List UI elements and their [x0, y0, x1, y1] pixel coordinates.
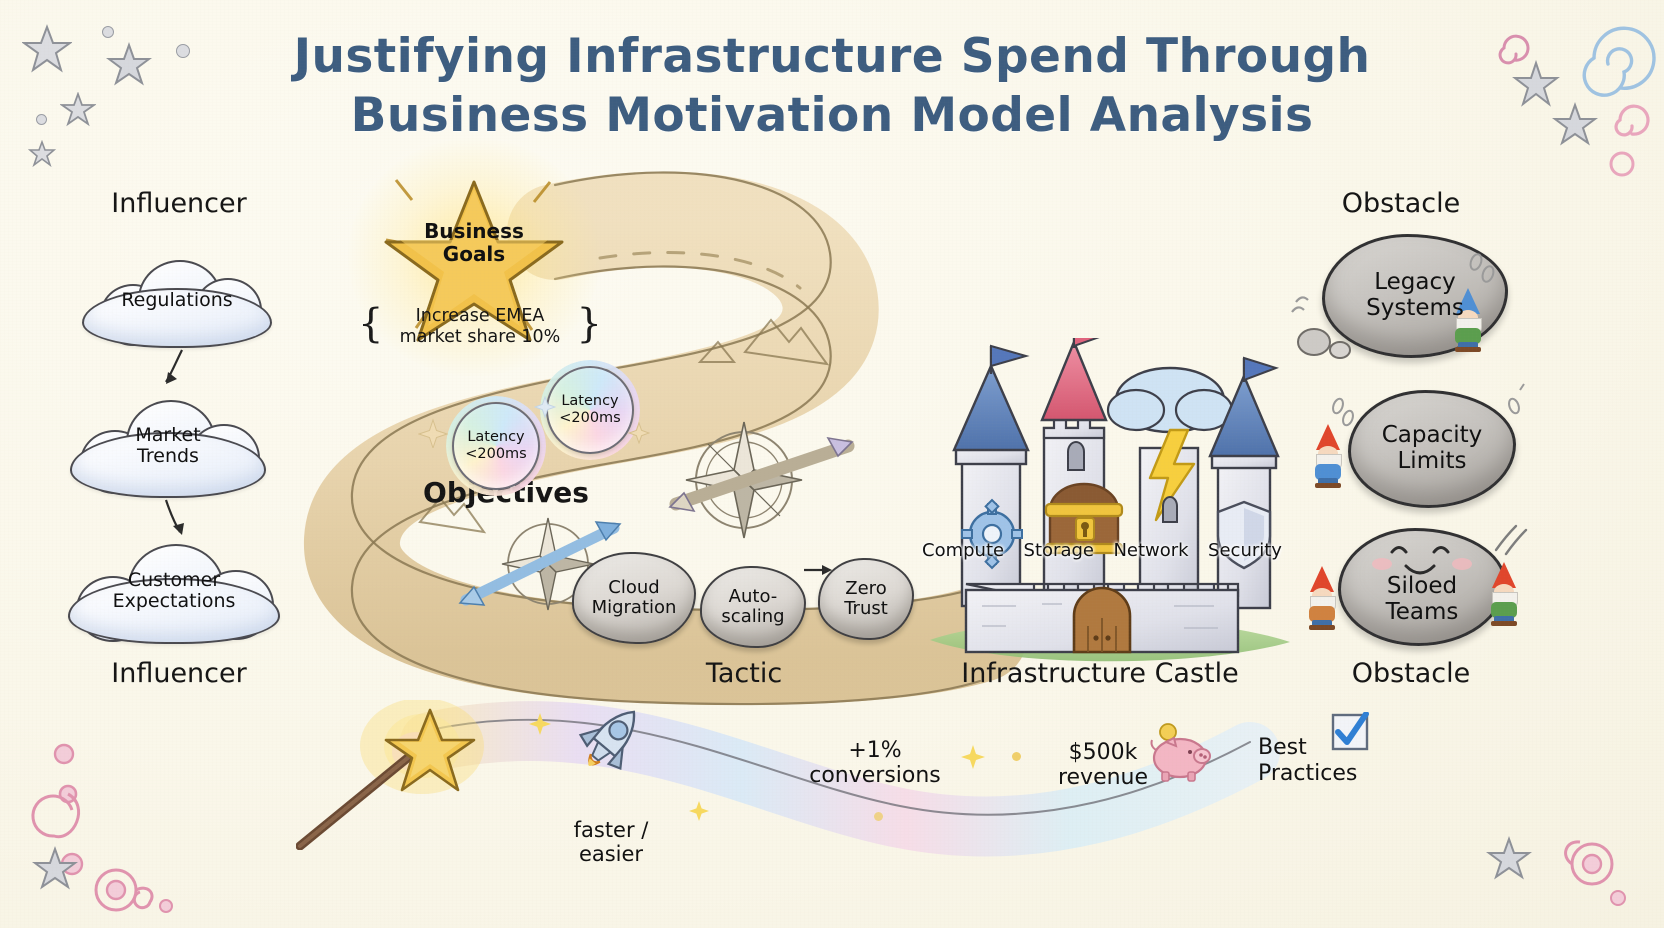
- caption-obstacle-bottom: Obstacle: [1316, 658, 1506, 689]
- decor-star-icon: [22, 24, 72, 74]
- caption-infrastructure-castle: Infrastructure Castle: [930, 658, 1270, 689]
- decor-swirl-pink-icon: [1604, 146, 1640, 182]
- caption-influencer-top: Influencer: [84, 188, 274, 219]
- gnome-boots: [1455, 347, 1481, 352]
- compass-rose-right-icon: [652, 412, 872, 542]
- gnome-boots: [1315, 483, 1341, 488]
- caption-influencer-bottom: Influencer: [84, 658, 274, 689]
- cloud-label: Market Trends: [127, 425, 208, 468]
- rocket-label: faster / easier: [546, 818, 676, 866]
- goal-text-line-2: market share 10%: [400, 327, 561, 347]
- business-goal-detail: { } Increase EMEA market share 10%: [372, 306, 588, 348]
- gnome-boots: [1309, 625, 1335, 630]
- objective-badge-latency-2[interactable]: Latency <200ms: [546, 366, 634, 454]
- arrow-autoscaling-to-zerotrust: [802, 556, 842, 586]
- sparkle-icon: [688, 800, 710, 822]
- outcome-conversions: +1% conversions: [790, 738, 960, 789]
- effort-marks-icon: [1328, 394, 1362, 434]
- stone-label: Cloud Migration: [586, 578, 683, 618]
- rubble-icon: [1296, 324, 1356, 360]
- decor-star-icon: [1552, 102, 1598, 148]
- brace-right: }: [577, 300, 602, 348]
- infrastructure-castle[interactable]: [922, 338, 1282, 658]
- castle-label-network: Network: [1113, 540, 1188, 561]
- decor-swirl-pink-icon: [1604, 92, 1660, 148]
- caption-tactic: Tactic: [644, 658, 844, 689]
- boulder-label: Capacity Limits: [1372, 423, 1493, 475]
- cloud-label: Customer Expectations: [105, 570, 244, 613]
- page-title: Justifying Infrastructure Spend Through …: [0, 28, 1664, 146]
- goal-text-line-1: Increase EMEA: [416, 306, 545, 326]
- motion-marks-icon: [1490, 522, 1534, 562]
- decor-star-icon: [1512, 60, 1560, 108]
- rocket-icon: [572, 698, 652, 778]
- tactic-stone-auto-scaling[interactable]: Auto- scaling: [700, 566, 806, 648]
- decor-star-icon: [1486, 836, 1532, 882]
- obstacle-boulder-siloed-teams[interactable]: Siloed Teams: [1338, 528, 1506, 646]
- decor-star-icon: [60, 92, 96, 128]
- sparkle-dot: [1012, 752, 1021, 761]
- effort-marks-icon: [1288, 278, 1328, 324]
- decor-swirl-pink-icon: [90, 858, 180, 918]
- castle-label-compute: Compute: [922, 540, 1004, 561]
- decor-star-icon: [106, 42, 152, 88]
- boulder-label: Legacy Systems: [1356, 270, 1474, 322]
- badge-label: Latency <200ms: [465, 429, 527, 462]
- sparkle-icon: [960, 744, 986, 770]
- stone-label: Auto- scaling: [715, 587, 790, 627]
- decor-dot: [36, 114, 47, 125]
- objective-badge-latency-1[interactable]: Latency <200ms: [452, 402, 540, 490]
- castle-label-storage: Storage: [1024, 540, 1094, 561]
- influencer-cloud-regulations[interactable]: Regulations: [82, 258, 272, 344]
- star-label: Business Goals: [382, 220, 566, 266]
- checkbox-checked-icon[interactable]: [1330, 712, 1370, 752]
- decor-star-icon: [28, 140, 56, 168]
- diagram-canvas: Justifying Infrastructure Spend Through …: [0, 0, 1664, 928]
- caption-obstacle-top: Obstacle: [1306, 188, 1496, 219]
- arrow-regulations-to-market: [150, 348, 210, 390]
- title-line-2: Business Motivation Model Analysis: [0, 87, 1664, 146]
- gnome-boots: [1491, 621, 1517, 626]
- gnome-pushing-siloed-teams-left: [1302, 566, 1342, 628]
- piggy-bank-icon: [1146, 722, 1216, 784]
- magic-wand: [296, 700, 476, 840]
- obstacle-boulder-capacity-limits[interactable]: Capacity Limits: [1348, 390, 1516, 508]
- decor-dot: [176, 44, 190, 58]
- sparkle-icon: [528, 712, 552, 736]
- influencer-cloud-customer-expectations[interactable]: Customer Expectations: [68, 542, 280, 640]
- castle-illustration: [922, 338, 1282, 658]
- tactic-stone-cloud-migration[interactable]: Cloud Migration: [572, 552, 696, 644]
- stone-label: Zero Trust: [838, 579, 894, 619]
- cloud-label: Regulations: [113, 290, 240, 311]
- title-line-1: Justifying Infrastructure Spend Through: [294, 29, 1371, 84]
- sparkle-icon: [628, 422, 650, 444]
- best-practices-label: Best Practices: [1258, 735, 1398, 788]
- brace-left: {: [358, 300, 383, 348]
- arrow-market-to-customer: [152, 498, 212, 540]
- gnome-pushing-siloed-teams-right: [1484, 562, 1524, 624]
- influencer-cloud-market-trends[interactable]: Market Trends: [70, 398, 266, 494]
- sparkle-icon: [418, 418, 448, 448]
- effort-marks-icon: [1500, 382, 1538, 426]
- sparkle-dot: [874, 812, 883, 821]
- badge-label: Latency <200ms: [559, 393, 621, 426]
- sparkle-icon: [534, 396, 556, 418]
- decor-swirl-pink-icon: [1548, 814, 1638, 914]
- decor-dot: [102, 26, 114, 38]
- castle-label-security: Security: [1208, 540, 1282, 561]
- castle-component-labels: Compute Storage Network Security: [922, 540, 1282, 561]
- smiley-face-icon: [1372, 542, 1474, 584]
- decor-star-icon: [32, 846, 78, 892]
